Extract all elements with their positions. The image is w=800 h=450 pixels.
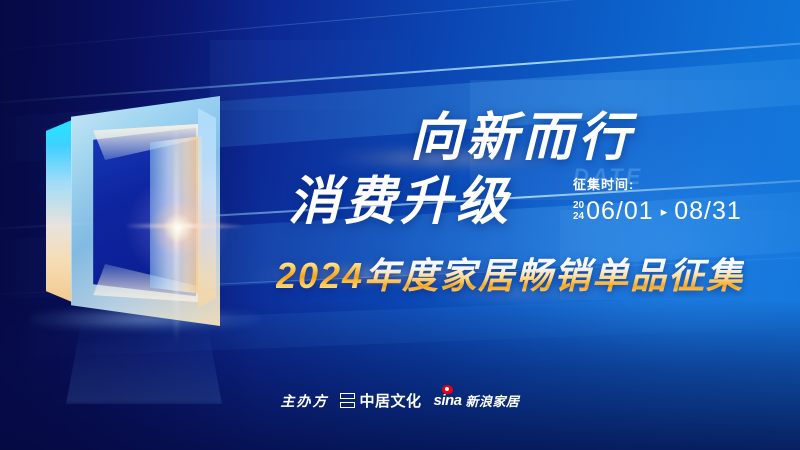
date-block: DATE 征集时间: 20 24 06/01 ▸ 08/31 xyxy=(573,168,783,224)
date-start: 06/01 xyxy=(586,199,654,224)
sina-wordmark: sina xyxy=(433,392,461,409)
headline-line-2: 消费升级 xyxy=(288,176,512,228)
date-end: 08/31 xyxy=(674,199,742,224)
headline-line-1: 向新而行 xyxy=(410,112,634,164)
light-streak-top xyxy=(0,0,800,63)
portal-right-edge xyxy=(198,108,216,308)
subtitle-banner: 2024年度家居畅销单品征集 xyxy=(276,258,744,294)
date-year-top: 20 xyxy=(573,201,584,211)
promo-banner: 向新而行 消费升级 DATE 征集时间: 20 24 06/01 ▸ 08/31… xyxy=(0,0,800,450)
subtitle-year: 2024 xyxy=(276,255,364,296)
sina-eye-icon xyxy=(442,385,453,394)
portal-door-graphic xyxy=(46,96,246,326)
date-range-row: 20 24 06/01 ▸ 08/31 xyxy=(573,199,783,224)
sina-logo-mark: sina xyxy=(433,392,461,410)
background-glow-right xyxy=(400,40,800,450)
footer-sponsor-bar: 主办方 中居文化 sina 新浪家居 xyxy=(0,390,800,411)
logo-sina-home: sina 新浪家居 xyxy=(433,391,519,410)
sina-home-label: 新浪家居 xyxy=(466,391,520,410)
date-year-bottom: 24 xyxy=(573,212,584,222)
portal-flare-horizontal xyxy=(124,224,244,228)
organizer-label: 主办方 xyxy=(280,391,328,411)
zhongju-label: 中居文化 xyxy=(359,390,421,411)
date-separator-icon: ▸ xyxy=(661,204,668,220)
portal-flare-vertical xyxy=(174,114,179,344)
portal-left-edge xyxy=(46,120,72,302)
subtitle-text: 年度家居畅销单品征集 xyxy=(364,255,744,296)
date-label: 征集时间: xyxy=(573,178,783,191)
date-year-stack: 20 24 xyxy=(573,201,584,221)
logo-zhongju-culture: 中居文化 xyxy=(340,390,421,411)
zhongju-mark-icon xyxy=(340,393,355,408)
